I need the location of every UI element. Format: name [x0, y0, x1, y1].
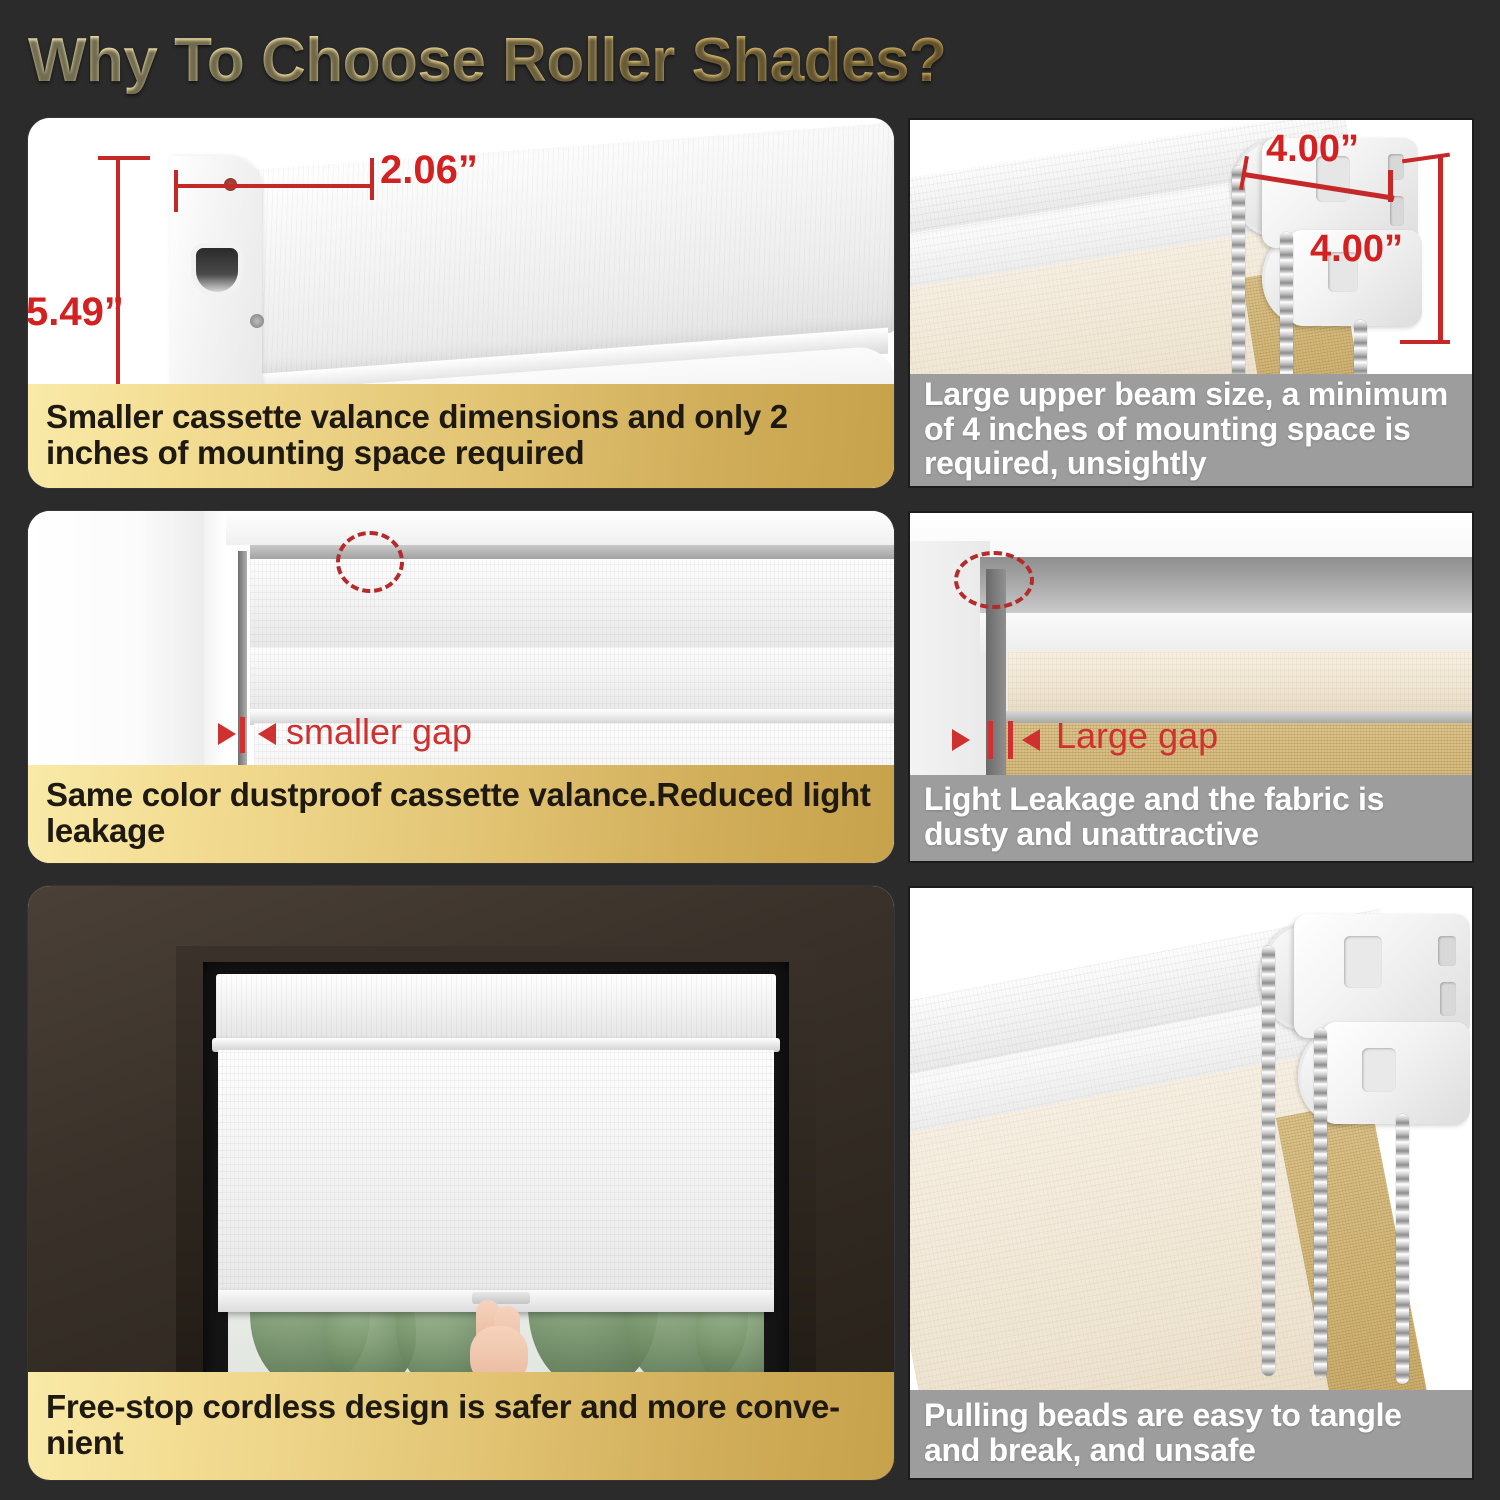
gap-arrow-left-icon [1022, 729, 1040, 751]
panel-caption-text: Smaller cassette valance dimensions and … [46, 399, 876, 472]
panel-caption-text: Pulling beads are easy to tangle and bre… [924, 1398, 1458, 1467]
width-dim-tick-left [174, 170, 178, 212]
gap-tick [240, 717, 245, 753]
shade-fabric [218, 1050, 774, 1298]
beam-width-label: 4.00” [1266, 128, 1359, 171]
panel-caption: Large upper beam size, a minimum of 4 in… [910, 374, 1472, 486]
panel-large-upper-beam: 4.00” 4.00” Large upper beam size, a min… [908, 118, 1474, 488]
panel-caption: Smaller cassette valance dimensions and … [28, 384, 894, 488]
gap-arrow-right-icon [952, 729, 970, 751]
gap-tick [988, 721, 993, 759]
bracket-mount-slot [1440, 982, 1456, 1016]
bracket-slot [196, 248, 238, 292]
panel-smaller-cassette-valance: 2.06” 5.49” Smaller cassette valance dim… [28, 118, 894, 488]
width-dimension-label: 2.06” [380, 148, 478, 193]
bracket-mount-slot [1438, 936, 1456, 966]
large-gap-label: Large gap [1056, 715, 1218, 757]
beam-underside [980, 613, 1474, 655]
bracket-recess [1344, 936, 1382, 988]
gap-arrow-left-icon [258, 723, 276, 745]
gap-highlight-circle [954, 551, 1034, 609]
width-dim-tick-right [370, 158, 374, 200]
height-dim-line [1438, 156, 1443, 344]
bracket-recess [1362, 1048, 1396, 1092]
panel-caption-text: Large upper beam size, a minimum of 4 in… [924, 377, 1458, 481]
panel-caption: Same color dustproof cassette valance.Re… [28, 765, 894, 863]
panel-caption: Light Leakage and the fabric is dusty an… [910, 775, 1472, 861]
upper-beam [980, 557, 1474, 617]
panel-caption-text: Same color dustproof cassette valance.Re… [46, 777, 876, 850]
bracket-plate-upper [1294, 914, 1470, 1038]
panel-pulling-beads: Pulling beads are easy to tangle and bre… [908, 886, 1474, 1480]
panel-caption-text: Free-stop cordless design is safer and m… [46, 1389, 876, 1462]
smaller-gap-label: smaller gap [286, 711, 472, 753]
bracket-plate-lower [1322, 1022, 1470, 1124]
cassette-valance [216, 974, 776, 1044]
gap-tick [1008, 721, 1013, 759]
beam-height-label: 4.00” [1310, 228, 1403, 271]
window-head-jamb [226, 511, 894, 545]
page-title: Why To Choose Roller Shades? [28, 22, 1068, 100]
cream-fabric-band [1008, 651, 1474, 713]
panel-caption: Pulling beads are easy to tangle and bre… [910, 1390, 1472, 1478]
height-dim-tick-top [98, 156, 150, 160]
panel-caption: Free-stop cordless design is safer and m… [28, 1372, 894, 1480]
bead-chain[interactable] [1262, 946, 1275, 1376]
screw-icon [250, 314, 264, 328]
panel-caption-text: Light Leakage and the fabric is dusty an… [924, 782, 1458, 851]
cassette-lower-fabric [250, 647, 894, 711]
width-dim-tick-right [1388, 170, 1393, 202]
gap-arrow-right-icon [218, 723, 236, 745]
panel-light-leakage: Large gap Light Leakage and the fabric i… [908, 511, 1474, 863]
panel-dustproof-cassette-valance: smaller gap Same color dustproof cassett… [28, 511, 894, 863]
height-dim-tick-bottom [1400, 340, 1450, 344]
panel-free-stop-cordless: Free-stop cordless design is safer and m… [28, 886, 894, 1480]
height-dimension-label: 5.49” [28, 290, 124, 335]
bead-chain[interactable] [1396, 1114, 1409, 1384]
bead-chain[interactable] [1314, 1028, 1327, 1378]
width-dim-line [174, 184, 374, 188]
gap-highlight-circle [336, 531, 404, 593]
